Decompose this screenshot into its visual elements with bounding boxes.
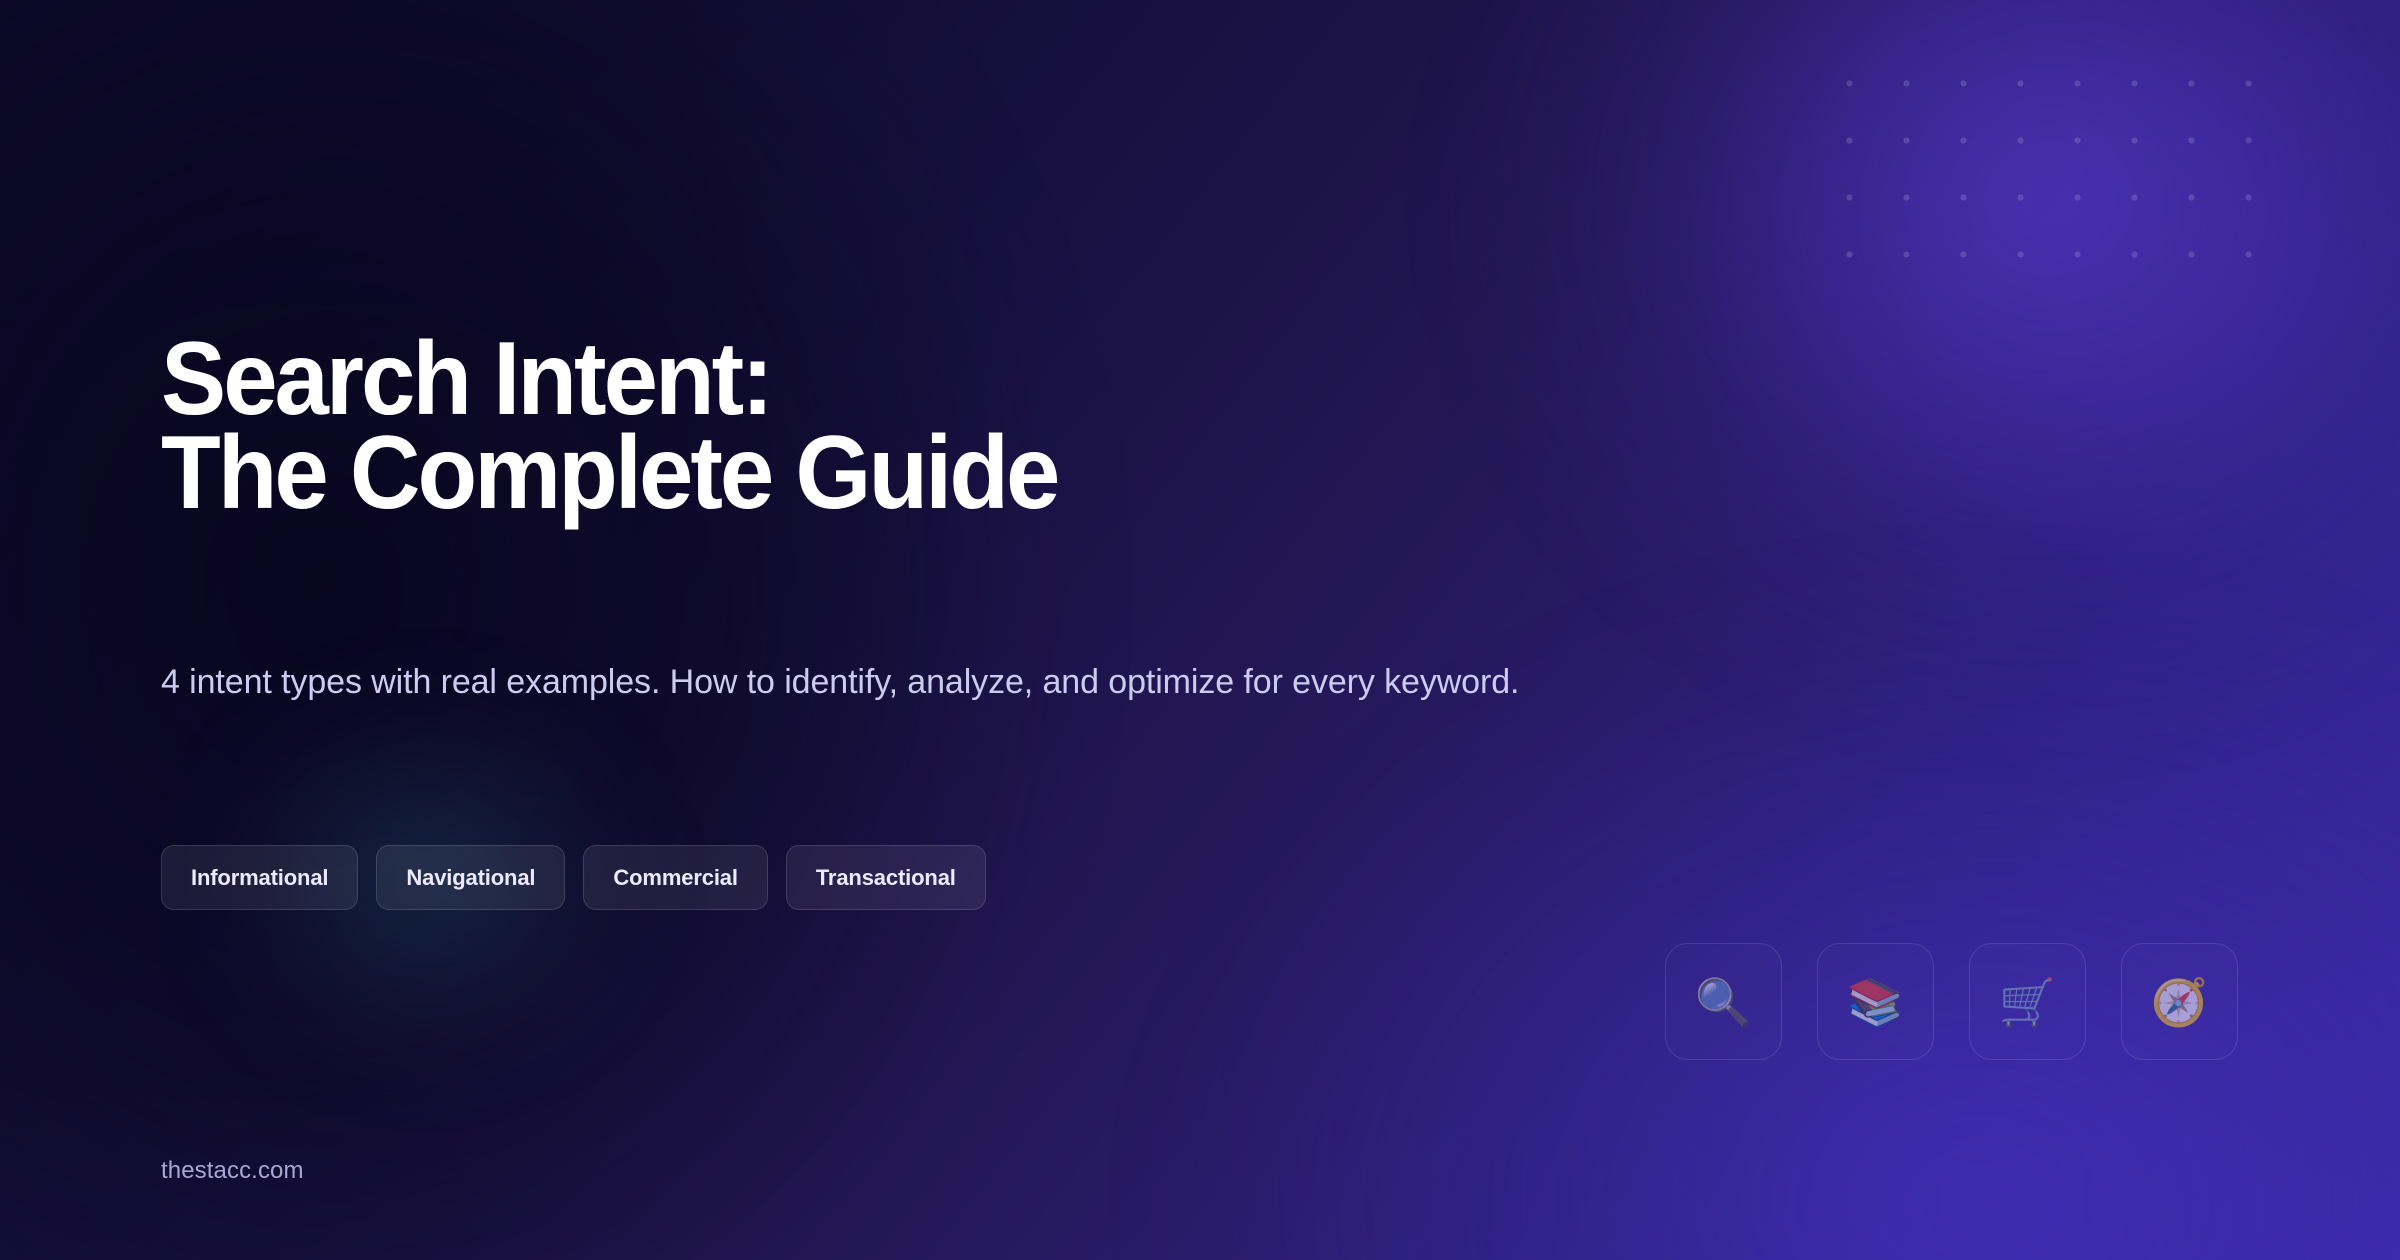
tile-commercial[interactable]: 🛒 xyxy=(1969,943,2086,1060)
pill-commercial[interactable]: Commercial xyxy=(583,845,767,910)
pill-label: Transactional xyxy=(816,865,956,891)
tile-transactional[interactable]: 🧭 xyxy=(2121,943,2238,1060)
dot-grid-pattern xyxy=(1846,80,2276,272)
compass-icon: 🧭 xyxy=(2151,979,2208,1025)
pill-informational[interactable]: Informational xyxy=(161,845,358,910)
pill-navigational[interactable]: Navigational xyxy=(376,845,565,910)
hero-slide: Search Intent: The Complete Guide 4 inte… xyxy=(0,0,2400,1260)
tile-informational[interactable]: 🔍 xyxy=(1665,943,1782,1060)
stack-of-books-icon: 📚 xyxy=(1847,979,1904,1025)
hero-content: Search Intent: The Complete Guide 4 inte… xyxy=(161,0,1661,1260)
pill-label: Informational xyxy=(191,865,328,891)
page-subtitle: 4 intent types with real examples. How t… xyxy=(161,652,1561,712)
intent-pill-row: Informational Navigational Commercial Tr… xyxy=(161,845,986,910)
footer-url: thestacc.com xyxy=(161,1157,304,1185)
pill-label: Commercial xyxy=(613,865,737,891)
tile-navigational[interactable]: 📚 xyxy=(1817,943,1934,1060)
icon-tile-row: 🔍 📚 🛒 🧭 xyxy=(1665,943,2238,1060)
page-title: Search Intent: The Complete Guide xyxy=(161,333,1057,520)
pill-transactional[interactable]: Transactional xyxy=(786,845,986,910)
pill-label: Navigational xyxy=(406,865,535,891)
magnifying-glass-icon: 🔍 xyxy=(1695,979,1752,1025)
shopping-cart-icon: 🛒 xyxy=(1999,979,2056,1025)
